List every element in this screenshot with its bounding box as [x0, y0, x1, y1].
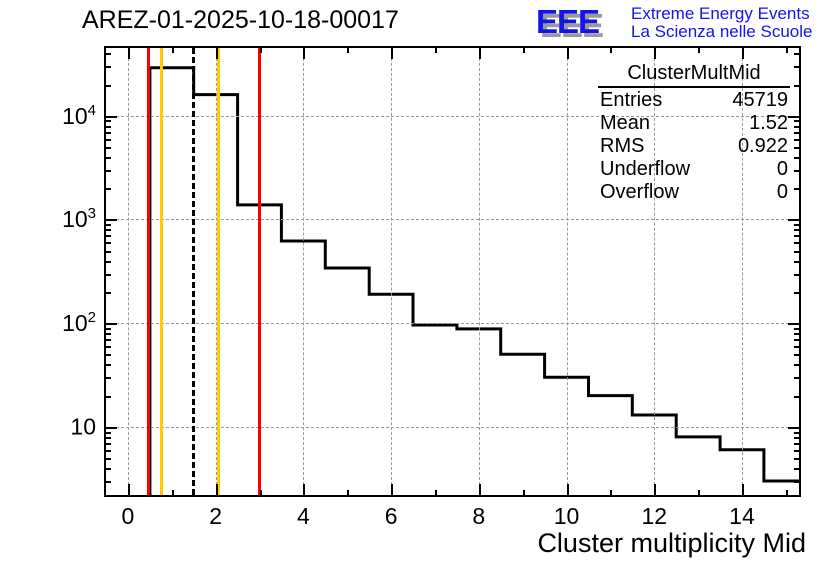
stats-title: ClusterMultMid	[598, 62, 790, 88]
stats-row-value: 1.52	[749, 112, 788, 135]
stats-row-value: 45719	[732, 89, 788, 112]
x-axis-title: Cluster multiplicity Mid	[537, 528, 806, 559]
x-axis-tick-label: 4	[297, 503, 310, 530]
x-axis-tick-label: 6	[385, 503, 398, 530]
stats-row-key: Underflow	[600, 158, 690, 181]
x-axis-tick-label: 14	[729, 503, 755, 530]
stats-row-value: 0.922	[738, 135, 788, 158]
x-axis-tick-label: 0	[122, 503, 135, 530]
stats-row: RMS0.922	[598, 135, 790, 158]
stats-row-key: Mean	[600, 112, 650, 135]
stats-row-key: Overflow	[600, 181, 679, 204]
y-axis-tick-label: 103	[62, 206, 96, 234]
stats-row-key: Entries	[600, 89, 662, 112]
stats-box: ClusterMultMid Entries45719Mean1.52RMS0.…	[598, 62, 790, 204]
stats-row-value: 0	[777, 181, 788, 204]
stats-row-value: 0	[777, 158, 788, 181]
x-axis-tick-label: 2	[209, 503, 222, 530]
y-axis-tick-label: 104	[62, 102, 96, 130]
x-axis-tick-label: 12	[641, 503, 667, 530]
stats-row: Entries45719	[598, 89, 790, 112]
stats-rows: Entries45719Mean1.52RMS0.922Underflow0Ov…	[598, 89, 790, 204]
stats-row: Underflow0	[598, 158, 790, 181]
stats-row: Overflow0	[598, 181, 790, 204]
stats-row-key: RMS	[600, 135, 644, 158]
stats-row: Mean1.52	[598, 112, 790, 135]
x-axis-tick-label: 8	[472, 503, 485, 530]
y-axis-tick-label: 10	[70, 413, 96, 440]
y-axis-tick-label: 102	[62, 309, 96, 337]
root-canvas: AREZ-01-2025-10-18-00017 EEE EEE Extreme…	[0, 0, 836, 572]
x-axis-tick-label: 10	[554, 503, 580, 530]
